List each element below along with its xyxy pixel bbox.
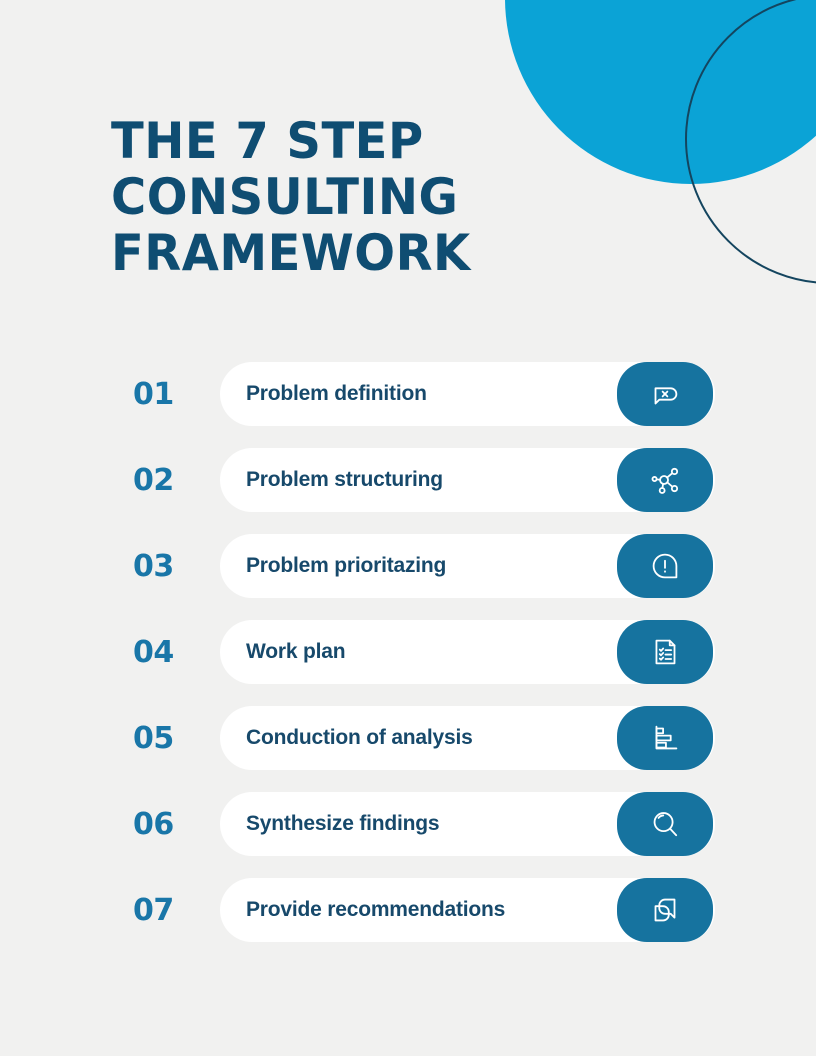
list-item[interactable]: 06 Synthesize findings <box>0 792 816 856</box>
title-block: THE 7 STEP CONSULTING FRAMEWORK <box>111 113 581 281</box>
step-label: Provide recommendations <box>246 878 505 942</box>
bar-chart-icon <box>646 719 684 757</box>
network-nodes-icon <box>646 461 684 499</box>
outline-navy-circle <box>685 0 816 284</box>
list-item[interactable]: 01 Problem definition <box>0 362 816 426</box>
poster-canvas: THE 7 STEP CONSULTING FRAMEWORK 01 Probl… <box>0 0 816 1056</box>
list-item[interactable]: 04 Work plan <box>0 620 816 684</box>
step-icon-badge[interactable] <box>617 534 713 598</box>
step-number: 07 <box>133 878 207 942</box>
step-icon-badge[interactable] <box>617 878 713 942</box>
steps-list: 01 Problem definition 02 Problem structu… <box>0 362 816 942</box>
page-title: THE 7 STEP CONSULTING FRAMEWORK <box>111 113 562 281</box>
step-label: Problem definition <box>246 362 427 426</box>
step-label: Problem prioritazing <box>246 534 446 598</box>
step-number: 06 <box>133 792 207 856</box>
list-item[interactable]: 03 Problem prioritazing <box>0 534 816 598</box>
list-item[interactable]: 07 Provide recommendations <box>0 878 816 942</box>
step-label: Conduction of analysis <box>246 706 473 770</box>
step-icon-badge[interactable] <box>617 620 713 684</box>
step-label: Work plan <box>246 620 345 684</box>
chat-bubbles-icon <box>646 891 684 929</box>
step-number: 02 <box>133 448 207 512</box>
step-number: 04 <box>133 620 207 684</box>
checklist-document-icon <box>646 633 684 671</box>
step-label: Problem structuring <box>246 448 443 512</box>
magnifier-icon <box>646 805 684 843</box>
step-number: 01 <box>133 362 207 426</box>
speech-bubble-x-icon <box>646 375 684 413</box>
list-item[interactable]: 05 Conduction of analysis <box>0 706 816 770</box>
exclamation-bubble-icon <box>646 547 684 585</box>
step-icon-badge[interactable] <box>617 792 713 856</box>
step-icon-badge[interactable] <box>617 448 713 512</box>
step-icon-badge[interactable] <box>617 362 713 426</box>
step-icon-badge[interactable] <box>617 706 713 770</box>
step-label: Synthesize findings <box>246 792 439 856</box>
step-number: 03 <box>133 534 207 598</box>
step-number: 05 <box>133 706 207 770</box>
list-item[interactable]: 02 Problem structuring <box>0 448 816 512</box>
